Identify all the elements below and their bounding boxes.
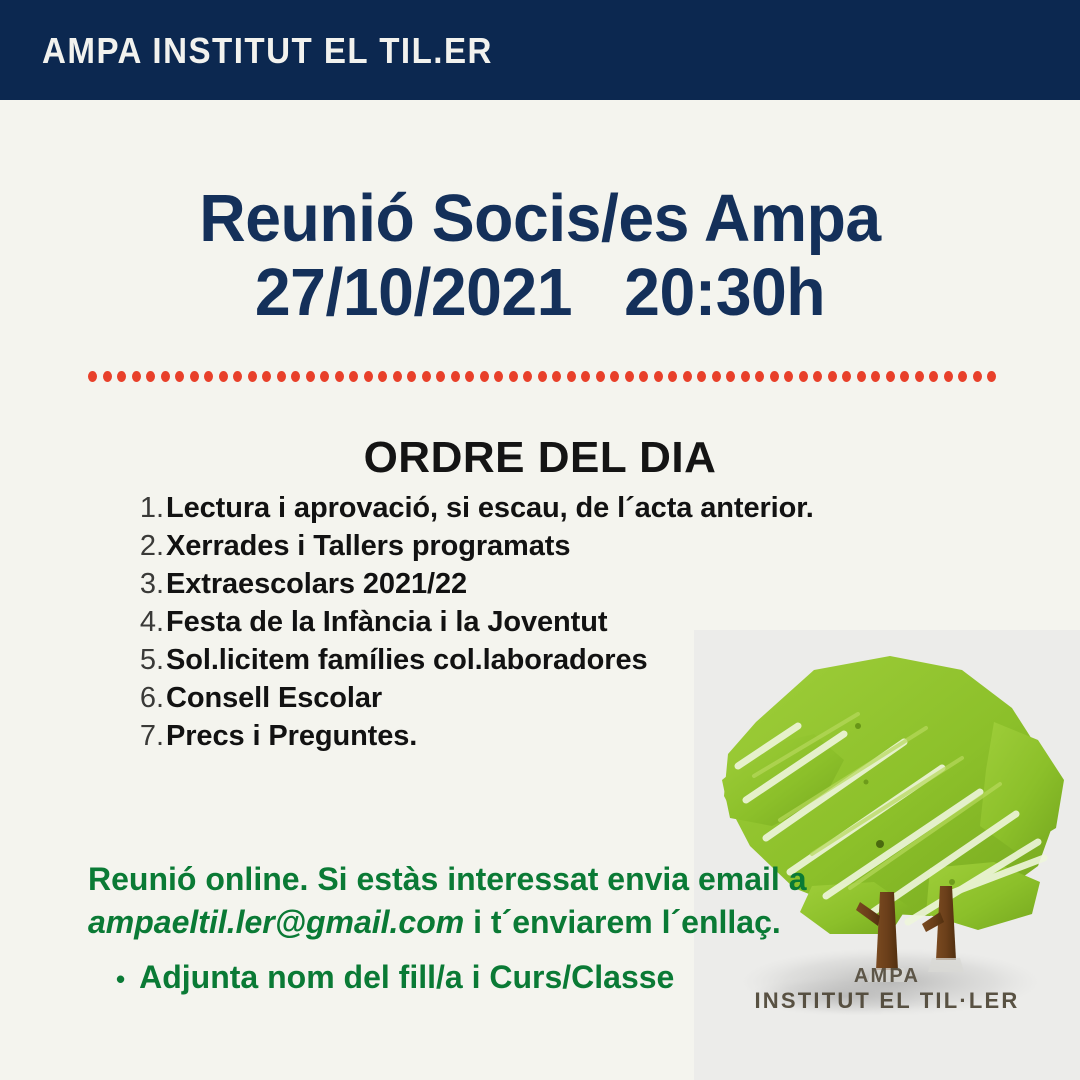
divider-dot [88,371,97,382]
divider-dot [538,371,547,382]
divider-dot [161,371,170,382]
divider-dot [741,371,750,382]
divider-dot [335,371,344,382]
divider-dot [828,371,837,382]
contact-bullet-row: • Adjunta nom del fill/a i Curs/Classe [116,956,868,999]
divider-dot [929,371,938,382]
divider-dot [567,371,576,382]
divider-dot [219,371,228,382]
divider-dot [683,371,692,382]
agenda-item-text: Xerrades i Tallers programats [166,530,570,563]
contact-email[interactable]: ampaeltil.ler@gmail.com [88,904,464,940]
contact-line-2-suffix: i t´enviarem l´enllaç. [464,904,781,940]
divider-dot [944,371,953,382]
divider-dot [799,371,808,382]
divider-dot [625,371,634,382]
agenda-item-number: 6. [130,682,164,715]
bullet-icon: • [116,966,125,992]
divider-dot [697,371,706,382]
divider-dot [277,371,286,382]
divider-dot [596,371,605,382]
divider-dot [465,371,474,382]
agenda-item-number: 7. [130,720,164,753]
divider-dot [248,371,257,382]
divider-dot [509,371,518,382]
agenda-item-text: Festa de la Infància i la Joventut [166,606,607,639]
divider-dot [117,371,126,382]
divider-dot [233,371,242,382]
divider-dot [364,371,373,382]
poster-canvas: AMPA INSTITUT EL TIL.ER Reunió Socis/es … [0,0,1080,1080]
divider-dot [132,371,141,382]
agenda-item-text: Lectura i aprovació, si escau, de l´acta… [166,492,814,525]
agenda-item-text: Sol.licitem famílies col.laboradores [166,644,648,677]
agenda-heading: ORDRE DEL DIA [0,433,1080,483]
divider-dot [915,371,924,382]
agenda-item-number: 1. [130,492,164,525]
divider-dot [857,371,866,382]
divider-dot [422,371,431,382]
agenda-item-number: 3. [130,568,164,601]
header-bar: AMPA INSTITUT EL TIL.ER [0,0,1080,100]
dotted-divider [88,370,996,382]
agenda-item: 1.Lectura i aprovació, si escau, de l´ac… [130,492,930,530]
meeting-datetime-line: 27/10/2021 20:30h [22,256,1059,330]
divider-dot [393,371,402,382]
ampa-logo: AMPA INSTITUT EL TIL·LER [694,630,1080,1080]
divider-dot [842,371,851,382]
divider-dot [784,371,793,382]
agenda-item-text: Extraescolars 2021/22 [166,568,467,601]
agenda-item-text: Precs i Preguntes. [166,720,417,753]
divider-dot [480,371,489,382]
contact-block: Reunió online. Si estàs interessat envia… [88,858,868,999]
contact-line-2: ampaeltil.ler@gmail.com i t´enviarem l´e… [88,901,868,944]
divider-dot [900,371,909,382]
divider-dot [204,371,213,382]
divider-dot [770,371,779,382]
contact-bullet-text: Adjunta nom del fill/a i Curs/Classe [139,956,674,999]
divider-dot [494,371,503,382]
tree-logo-icon [694,630,1080,1080]
divider-dot [103,371,112,382]
agenda-item: 2.Xerrades i Tallers programats [130,530,930,568]
divider-dot [886,371,895,382]
divider-dot [407,371,416,382]
divider-dot [190,371,199,382]
agenda-item-number: 4. [130,606,164,639]
divider-dot [726,371,735,382]
agenda-item: 3.Extraescolars 2021/22 [130,568,930,606]
divider-dot [320,371,329,382]
divider-dot [523,371,532,382]
divider-dot [871,371,880,382]
divider-dot [451,371,460,382]
divider-dot [755,371,764,382]
divider-dot [654,371,663,382]
divider-dot [712,371,721,382]
agenda-item-number: 5. [130,644,164,677]
divider-dot [262,371,271,382]
meeting-title-line-1: Reunió Socis/es Ampa [22,182,1059,256]
agenda-item-text: Consell Escolar [166,682,382,715]
divider-dot [668,371,677,382]
divider-dot [987,371,996,382]
divider-dot [639,371,648,382]
divider-dot [813,371,822,382]
divider-dot [349,371,358,382]
divider-dot [378,371,387,382]
divider-dot [958,371,967,382]
divider-dot [175,371,184,382]
meeting-title-block: Reunió Socis/es Ampa 27/10/2021 20:30h [0,182,1080,330]
divider-dot [291,371,300,382]
contact-line-1: Reunió online. Si estàs interessat envia… [88,858,868,901]
divider-dot [552,371,561,382]
divider-dot [436,371,445,382]
divider-dot [306,371,315,382]
divider-dot [610,371,619,382]
divider-dot [973,371,982,382]
agenda-item-number: 2. [130,530,164,563]
divider-dot [146,371,155,382]
organization-title: AMPA INSTITUT EL TIL.ER [42,33,493,69]
divider-dot [581,371,590,382]
